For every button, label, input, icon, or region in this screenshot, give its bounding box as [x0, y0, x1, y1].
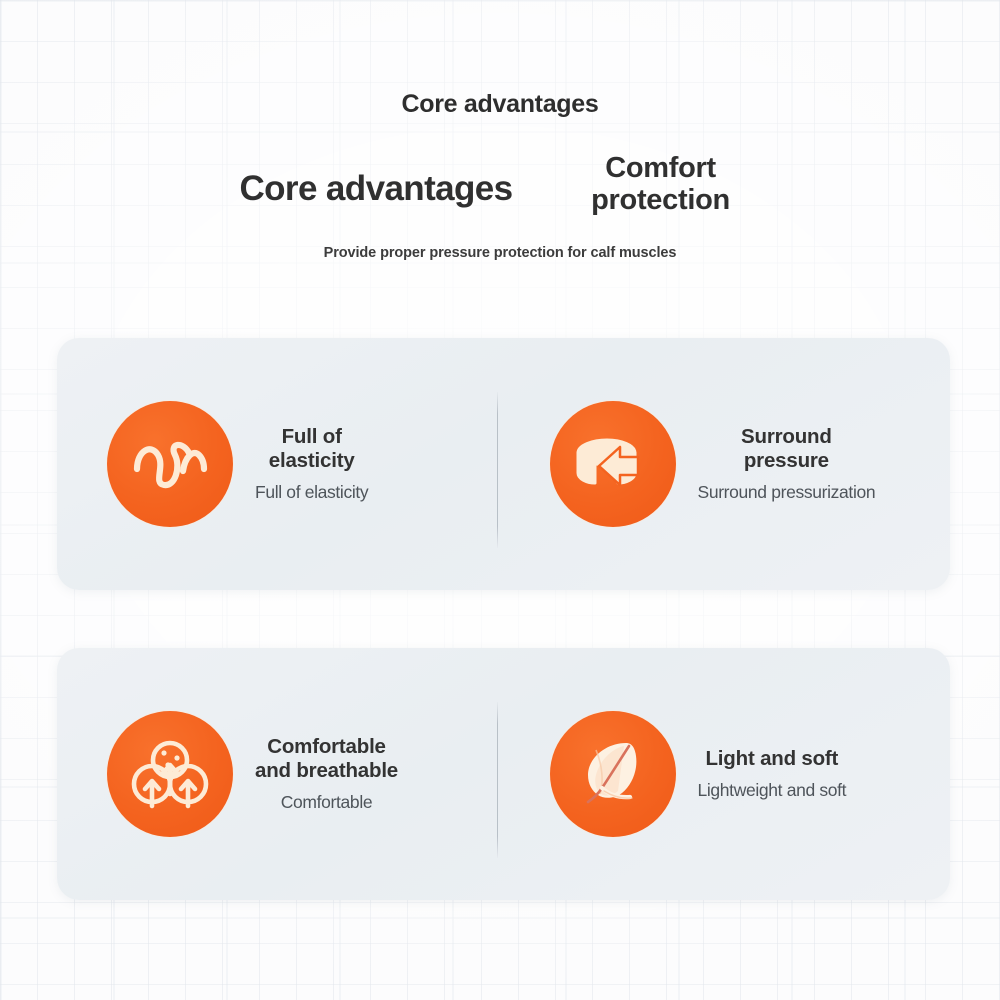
feature-card-elasticity-pressure: Full of elasticity Full of elasticity — [57, 338, 950, 590]
feather-icon — [550, 711, 676, 837]
feature-item-comfortable-breathable: Comfortable and breathable Comfortable — [57, 648, 504, 900]
feature-item-full-of-elasticity: Full of elasticity Full of elasticity — [57, 338, 504, 590]
feature-item-light-and-soft: Light and soft Lightweight and soft — [504, 648, 951, 900]
card-column-divider — [497, 702, 498, 858]
feature-subtitle: Full of elasticity — [255, 482, 368, 503]
feature-text-block: Comfortable and breathable Comfortable — [255, 735, 398, 813]
page-title: Core advantages — [239, 152, 512, 209]
feature-card-breathable-light: Comfortable and breathable Comfortable — [57, 648, 950, 900]
feature-text-block: Light and soft Lightweight and soft — [698, 747, 847, 801]
feature-item-surround-pressure: Surround pressure Surround pressurizatio… — [504, 338, 951, 590]
headline-row: Core advantages Comfort protection — [0, 152, 1000, 217]
feature-title: Full of elasticity — [269, 425, 355, 473]
page-tagline: Provide proper pressure protection for c… — [0, 245, 1000, 261]
page-subtitle-heading: Comfort protection — [561, 152, 761, 217]
feature-title: Surround pressure — [741, 425, 832, 473]
feature-subtitle: Comfortable — [281, 792, 372, 813]
feature-title: Light and soft — [705, 747, 838, 771]
card-column-divider — [497, 392, 498, 548]
spring-coil-icon — [107, 401, 233, 527]
feature-title: Comfortable and breathable — [255, 735, 398, 783]
feature-text-block: Surround pressure Surround pressurizatio… — [698, 425, 876, 503]
product-feature-page: Core advantages Core advantages Comfort … — [0, 0, 1000, 1000]
feature-text-block: Full of elasticity Full of elasticity — [255, 425, 368, 503]
breathable-cotton-arrows-icon — [107, 711, 233, 837]
feature-subtitle: Surround pressurization — [698, 482, 876, 503]
page-eyebrow-title: Core advantages — [0, 90, 1000, 119]
compression-band-arrow-icon — [550, 401, 676, 527]
feature-subtitle: Lightweight and soft — [698, 780, 847, 801]
